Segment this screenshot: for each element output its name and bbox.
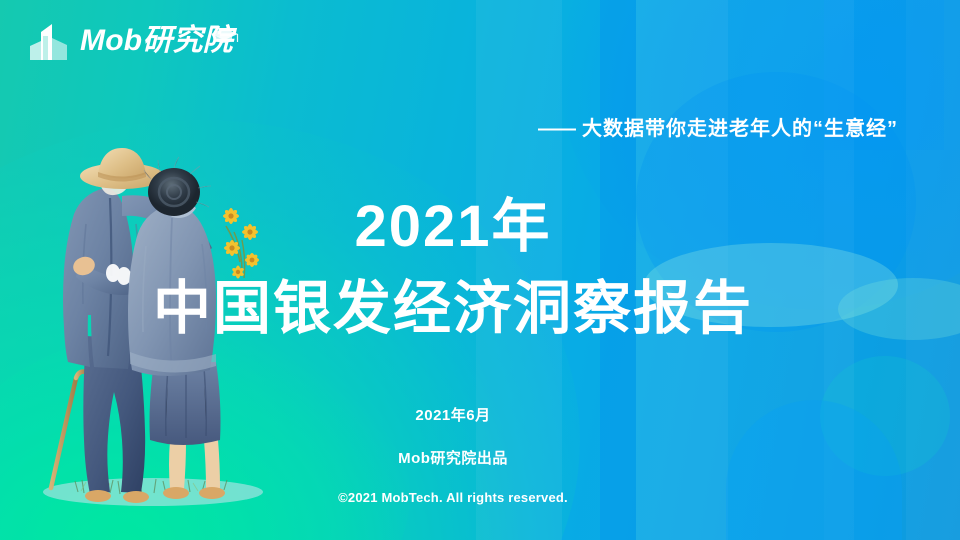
background-band-6 <box>906 0 960 540</box>
graduation-cap-icon <box>209 27 239 44</box>
cover-subtitle: ——大数据带你走进老年人的“生意经” <box>0 112 898 141</box>
presentation-cover-slide: Mob研究院 <box>0 0 960 540</box>
cover-title-line-1: 2021年 <box>0 196 906 259</box>
subtitle-dash: —— <box>538 118 574 140</box>
publisher-name: Mob研究院出品 <box>0 447 906 468</box>
subtitle-text: 大数据带你走进老年人的“生意经” <box>582 118 898 140</box>
background-wash-top-right <box>560 0 960 310</box>
building-mark-icon <box>27 20 75 62</box>
publish-date: 2021年6月 <box>0 404 906 425</box>
copyright-notice: ©2021 MobTech. All rights reserved. <box>0 490 906 505</box>
cover-meta-block: 2021年6月 Mob研究院出品 ©2021 MobTech. All righ… <box>0 404 906 505</box>
cover-title-line-2: 中国银发经济洞察报告 <box>0 278 906 341</box>
brand-logo[interactable]: Mob研究院 <box>27 18 233 64</box>
